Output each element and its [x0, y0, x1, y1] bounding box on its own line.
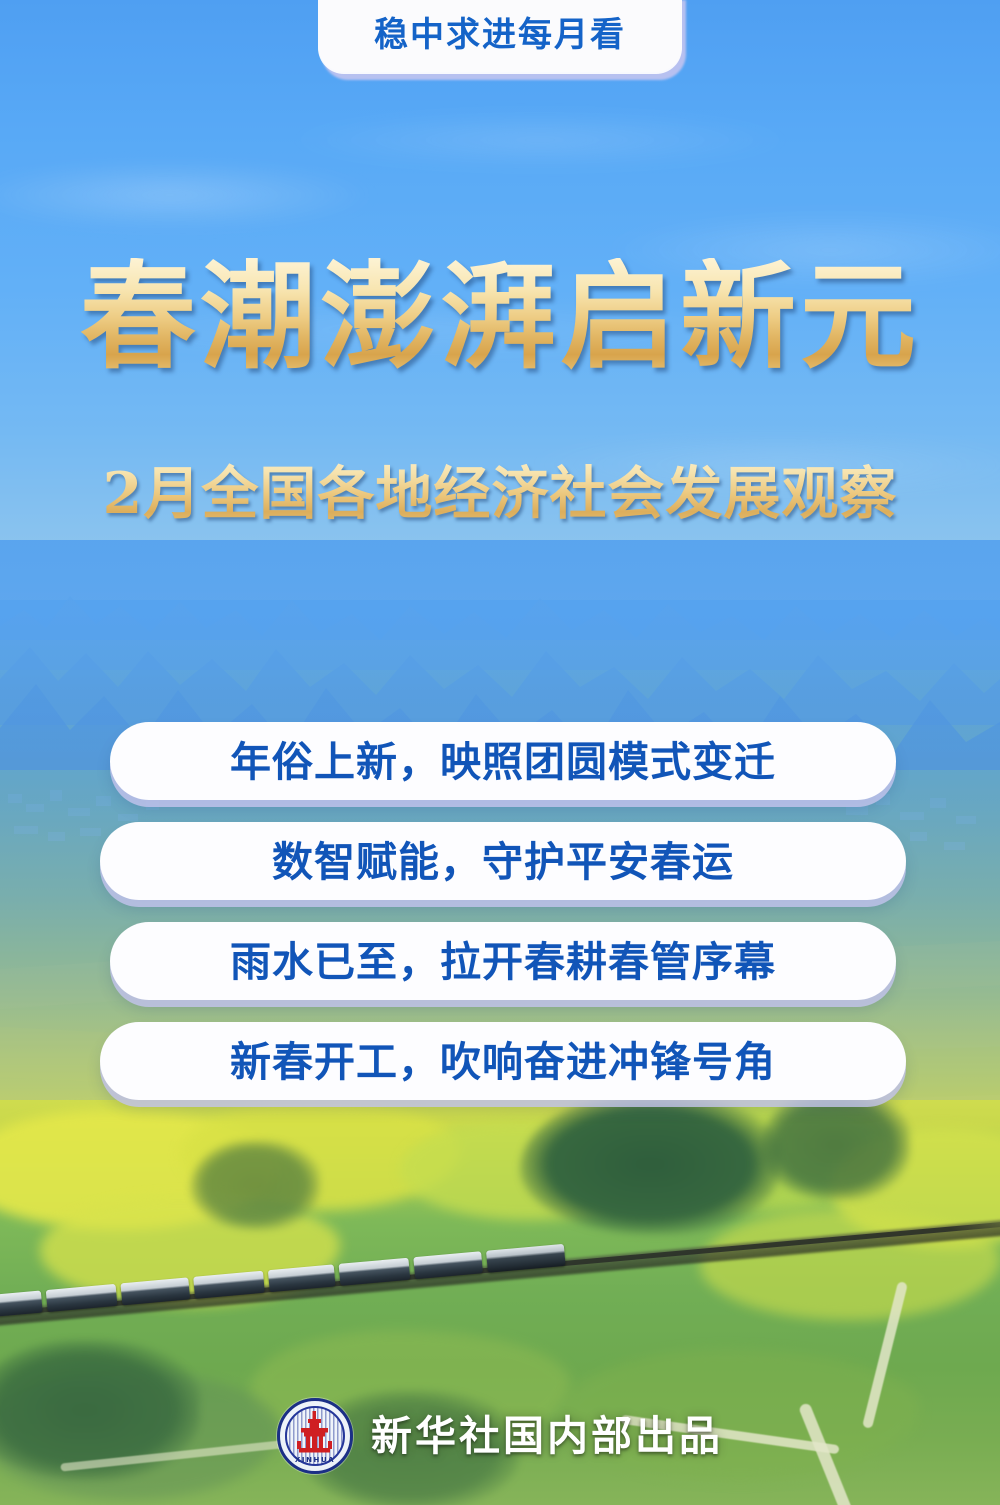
topic-item-2[interactable]: 数智赋能，守护平安春运: [100, 822, 906, 900]
topic-row: 年俗上新，映照团圆模式变迁: [0, 722, 1000, 822]
tree-belt: [190, 1140, 320, 1230]
poster-root: 稳中求进每月看 春潮澎湃启新元 2月全国各地经济社会发展观察 年俗上新，映照团圆…: [0, 0, 1000, 1505]
topic-label: 年俗上新，映照团圆模式变迁: [230, 740, 776, 783]
topic-row: 雨水已至，拉开春耕春管序幕: [0, 922, 1000, 1022]
subtitle-wrap: 2月全国各地经济社会发展观察: [0, 448, 1000, 530]
page-title: 春潮澎湃启新元: [80, 258, 920, 376]
cloud-wisp: [280, 110, 800, 170]
xinhua-logo-icon: XINHUA: [277, 1398, 353, 1474]
topic-label: 新春开工，吹响奋进冲锋号角: [230, 1040, 776, 1083]
topic-row: 新春开工，吹响奋进冲锋号角: [0, 1022, 1000, 1122]
topic-item-4[interactable]: 新春开工，吹响奋进冲锋号角: [100, 1022, 906, 1100]
logo-wordmark: XINHUA: [280, 1456, 350, 1464]
topic-item-1[interactable]: 年俗上新，映照团圆模式变迁: [110, 722, 896, 800]
header-tab-label: 稳中求进每月看: [374, 14, 626, 52]
topic-row: 数智赋能，守护平安春运: [0, 822, 1000, 922]
main-title-wrap: 春潮澎湃启新元: [0, 258, 1000, 376]
footer: XINHUA 新华社国内部出品: [0, 1396, 1000, 1476]
page-subtitle: 2月全国各地经济社会发展观察: [103, 448, 898, 530]
topic-label: 数智赋能，守护平安春运: [272, 840, 734, 883]
topic-label: 雨水已至，拉开春耕春管序幕: [230, 940, 776, 983]
topic-list: 年俗上新，映照团圆模式变迁 数智赋能，守护平安春运 雨水已至，拉开春耕春管序幕 …: [0, 722, 1000, 1122]
topic-item-3[interactable]: 雨水已至，拉开春耕春管序幕: [110, 922, 896, 1000]
header-tab[interactable]: 稳中求进每月看: [318, 0, 682, 72]
footer-credit: 新华社国内部出品: [371, 1416, 723, 1457]
